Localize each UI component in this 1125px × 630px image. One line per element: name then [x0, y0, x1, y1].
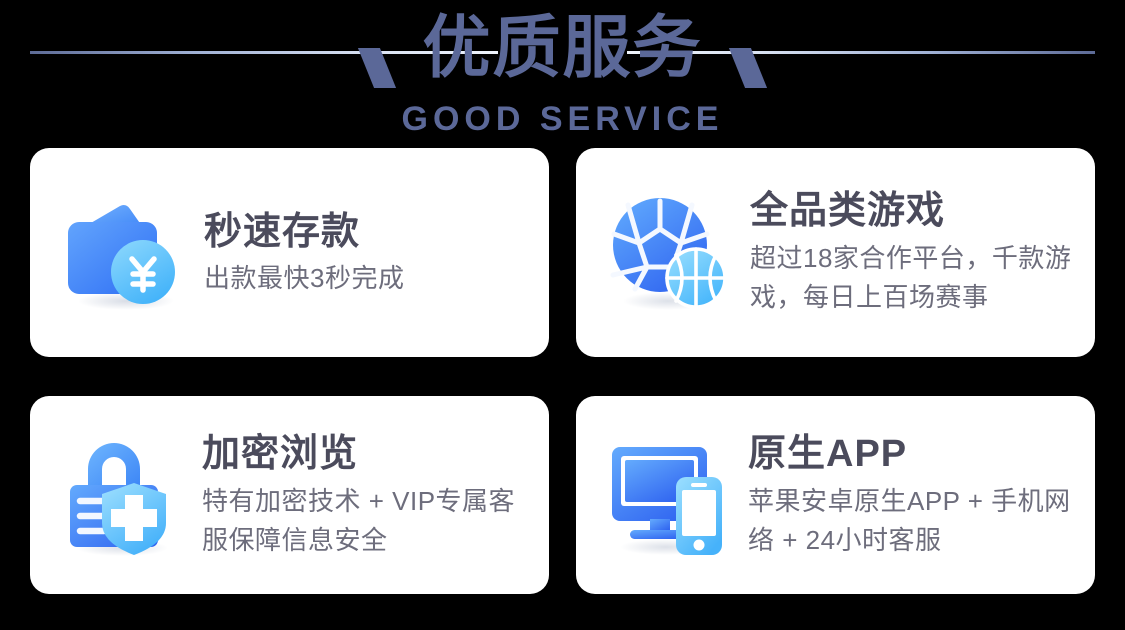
feature-card-grid: 秒速存款 出款最快3秒完成 — [30, 148, 1095, 594]
card-text-block: 秒速存款 出款最快3秒完成 — [204, 209, 527, 297]
page-title: 优质服务 — [0, 11, 1125, 87]
wallet-yen-icon — [60, 189, 188, 317]
card-description: 苹果安卓原生APP + 手机网络 + 24小时客服 — [748, 482, 1073, 560]
card-title: 原生APP — [748, 431, 1073, 477]
soccer-basketball-icon — [606, 189, 734, 317]
card-description: 出款最快3秒完成 — [204, 260, 527, 297]
card-text-block: 原生APP 苹果安卓原生APP + 手机网络 + 24小时客服 — [748, 431, 1073, 560]
card-title: 加密浏览 — [202, 431, 527, 477]
monitor-phone-icon — [606, 431, 734, 559]
card-title: 秒速存款 — [204, 209, 527, 255]
card-text-block: 全品类游戏 超过18家合作平台，千款游戏，每日上百场赛事 — [750, 188, 1073, 317]
page-subtitle: GOOD SERVICE — [0, 99, 1125, 139]
promo-banner: 优质服务 GOOD SERVICE — [0, 0, 1125, 630]
card-title: 全品类游戏 — [750, 188, 1073, 234]
card-description: 超过18家合作平台，千款游戏，每日上百场赛事 — [750, 239, 1073, 317]
card-description: 特有加密技术 + VIP专属客服保障信息安全 — [202, 482, 527, 560]
feature-card-deposit[interactable]: 秒速存款 出款最快3秒完成 — [30, 148, 549, 357]
lock-shield-icon — [60, 431, 188, 559]
card-text-block: 加密浏览 特有加密技术 + VIP专属客服保障信息安全 — [202, 431, 527, 560]
banner-header: 优质服务 GOOD SERVICE — [0, 0, 1125, 145]
feature-card-native-app[interactable]: 原生APP 苹果安卓原生APP + 手机网络 + 24小时客服 — [576, 396, 1095, 594]
feature-card-encryption[interactable]: 加密浏览 特有加密技术 + VIP专属客服保障信息安全 — [30, 396, 549, 594]
feature-card-games[interactable]: 全品类游戏 超过18家合作平台，千款游戏，每日上百场赛事 — [576, 148, 1095, 357]
